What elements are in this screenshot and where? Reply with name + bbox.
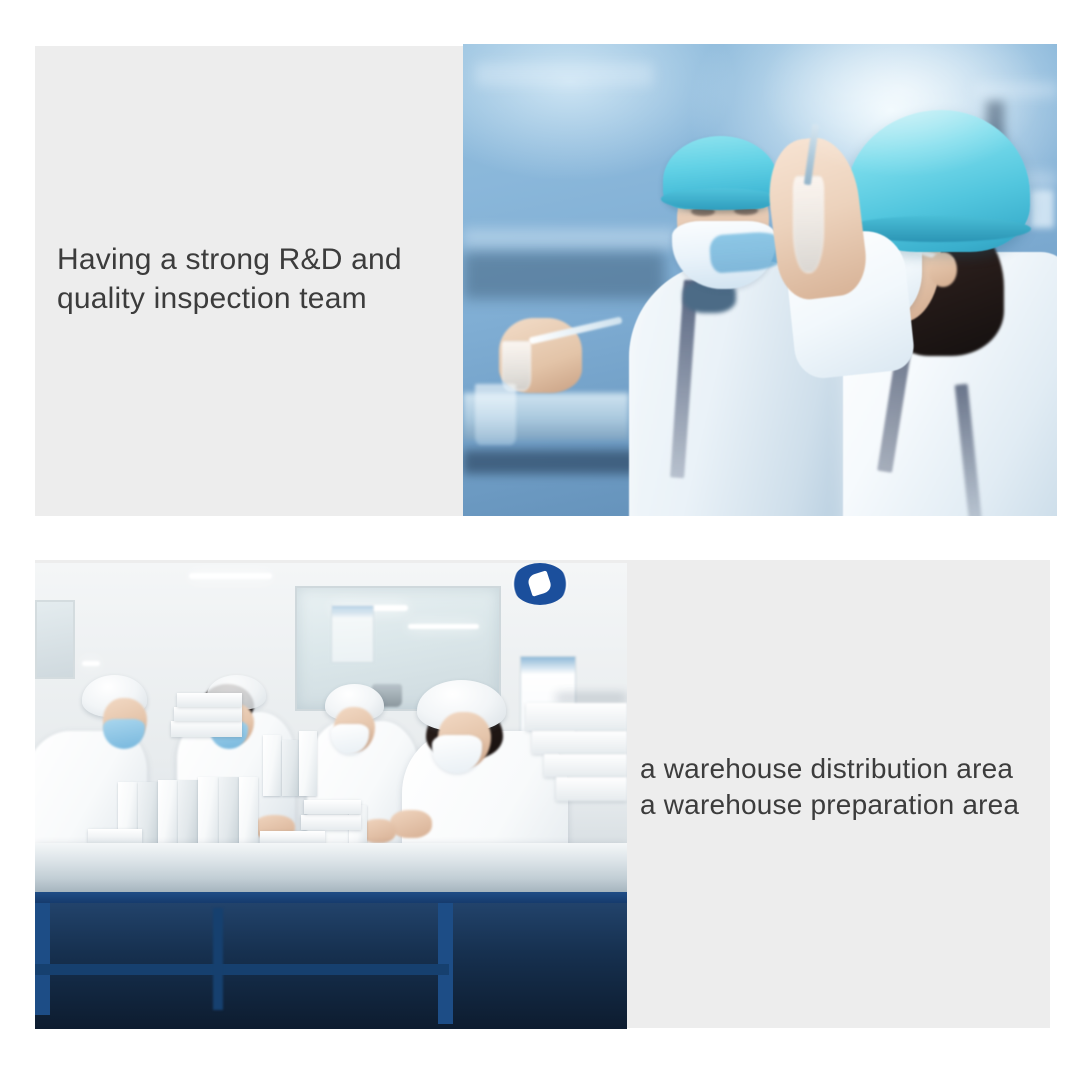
technician-right-ear bbox=[929, 252, 956, 287]
ceiling-light-c bbox=[408, 624, 479, 629]
carton-flat-stack-a bbox=[171, 721, 242, 737]
rnd-caption-line-2: quality inspection team bbox=[57, 282, 367, 315]
table-leg-middle bbox=[213, 908, 224, 1011]
carton-row-5 bbox=[198, 777, 218, 842]
warehouse-caption: a warehouse distribution areaa warehouse… bbox=[640, 751, 1019, 824]
carton-stack-c bbox=[544, 754, 627, 777]
carton-flat-stack-d bbox=[301, 815, 360, 830]
carton-tall-1 bbox=[263, 735, 281, 796]
steel-table-top bbox=[35, 843, 627, 899]
steel-table-edge bbox=[35, 892, 627, 904]
carton-row-3 bbox=[158, 780, 178, 843]
carton-row-6 bbox=[219, 777, 239, 842]
carton-flat-stack-b bbox=[174, 707, 242, 722]
wall-poster-2 bbox=[331, 605, 374, 663]
table-leg-left bbox=[35, 903, 50, 1015]
rnd-caption-line-1: Having a strong R&D and bbox=[57, 243, 402, 276]
warehouse-caption-line-1: a warehouse distribution area bbox=[640, 753, 1013, 784]
technician-left-hairnet-rim bbox=[661, 188, 780, 210]
lab-bottle-b bbox=[1030, 190, 1054, 228]
table-crossbar bbox=[35, 964, 449, 975]
carton-tall-3 bbox=[299, 731, 317, 796]
carton-flat-stack-c bbox=[177, 693, 242, 707]
carton-row-7 bbox=[239, 777, 258, 842]
rnd-caption: Having a strong R&D andquality inspectio… bbox=[57, 240, 402, 318]
lab-shelf-mid bbox=[463, 228, 677, 249]
worker-4-hand-left bbox=[390, 810, 431, 838]
carton-flat-stack-f bbox=[88, 829, 141, 843]
ceiling-light-d bbox=[82, 661, 100, 666]
lab-equipment-left bbox=[463, 252, 665, 299]
wall-rail bbox=[556, 693, 627, 702]
warehouse-caption-line-2: a warehouse preparation area bbox=[640, 789, 1019, 820]
carton-row-4 bbox=[178, 780, 198, 843]
carton-flat-stack-e bbox=[304, 800, 360, 814]
glass-flask bbox=[793, 176, 825, 272]
carton-stack-b bbox=[532, 731, 627, 754]
glass-beaker bbox=[475, 384, 517, 445]
lab-technicians-photo bbox=[463, 44, 1057, 516]
lab-shelf-right-top bbox=[974, 82, 1057, 99]
page-root: Having a strong R&D andquality inspectio… bbox=[0, 0, 1080, 1080]
ceiling-light-a bbox=[189, 573, 272, 579]
lab-shelf-top bbox=[475, 63, 653, 87]
carton-tall-2 bbox=[282, 740, 299, 796]
cleanroom-packing-photo bbox=[35, 563, 627, 1029]
carton-stack-a bbox=[526, 703, 627, 731]
carton-stack-d bbox=[556, 777, 627, 800]
cleanroom-side-window bbox=[35, 600, 75, 679]
